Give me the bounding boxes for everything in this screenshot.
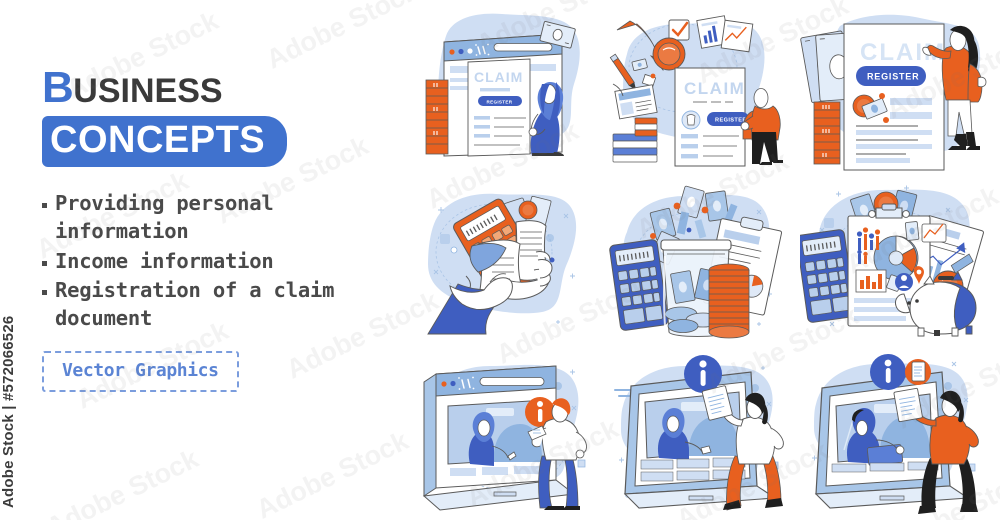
list-item: Income information: [42, 247, 402, 275]
title-initial: B: [42, 63, 73, 112]
svg-text:CLAIM: CLAIM: [684, 79, 745, 98]
feature-bullet-list: Providing personal information Income in…: [42, 189, 402, 332]
list-item: Registration of a claim document: [42, 276, 402, 333]
svg-text:REGISTER: REGISTER: [715, 118, 747, 124]
list-item-label: Registration of a claim document: [55, 276, 402, 333]
vector-graphics-label: Vector Graphics: [62, 360, 219, 381]
svg-text:REGISTER: REGISTER: [487, 99, 513, 104]
stock-watermark-id: Adobe Stock | #572066526: [0, 316, 17, 508]
svg-text:CLAIM: CLAIM: [474, 69, 523, 85]
illustration-laptop-video-call-info-badge: [605, 346, 800, 516]
illustration-laptop-consultation-info-badge: [800, 346, 995, 516]
bullet-dot-icon: [42, 290, 47, 295]
illustration-claim-document-man-coins: CLAIM REGISTER: [605, 6, 800, 176]
watermark-tile: Adobe Stock: [262, 0, 424, 76]
list-item-label: Providing personal information: [55, 189, 402, 246]
watermark-tile: Adobe Stock: [252, 425, 414, 520]
page-title: BUSINESS: [42, 66, 402, 110]
illustration-browser-video-call-info-badge: [410, 346, 605, 516]
stock-watermark-rail: Adobe Stock | #572066526: [0, 0, 34, 520]
illustration-money-jar-calculator-clipboard: [605, 176, 800, 346]
bullet-dot-icon: [42, 203, 47, 208]
watermark-tile: Adobe Stock: [42, 443, 204, 520]
title-panel: BUSINESS CONCEPTS Providing personal inf…: [42, 66, 402, 392]
illustration-clipboard-charts-piggy-bank: [800, 176, 995, 346]
svg-text:REGISTER: REGISTER: [867, 72, 919, 82]
title-badge-concepts: CONCEPTS: [42, 116, 287, 167]
title-word-business: USINESS: [73, 72, 222, 110]
list-item-label: Income information: [55, 247, 274, 275]
illustration-claim-form-woman-banknotes: CLAIM REGISTER: [800, 6, 995, 176]
list-item: Providing personal information: [42, 189, 402, 246]
bullet-dot-icon: [42, 261, 47, 266]
vector-graphics-badge: Vector Graphics: [42, 351, 239, 392]
illustration-grid: CLAIM REGISTER: [410, 6, 995, 516]
title-word-concepts: CONCEPTS: [50, 121, 265, 159]
illustration-browser-claim-form-woman: CLAIM REGISTER: [410, 6, 605, 176]
illustration-hands-calculator-receipt: [410, 176, 605, 346]
